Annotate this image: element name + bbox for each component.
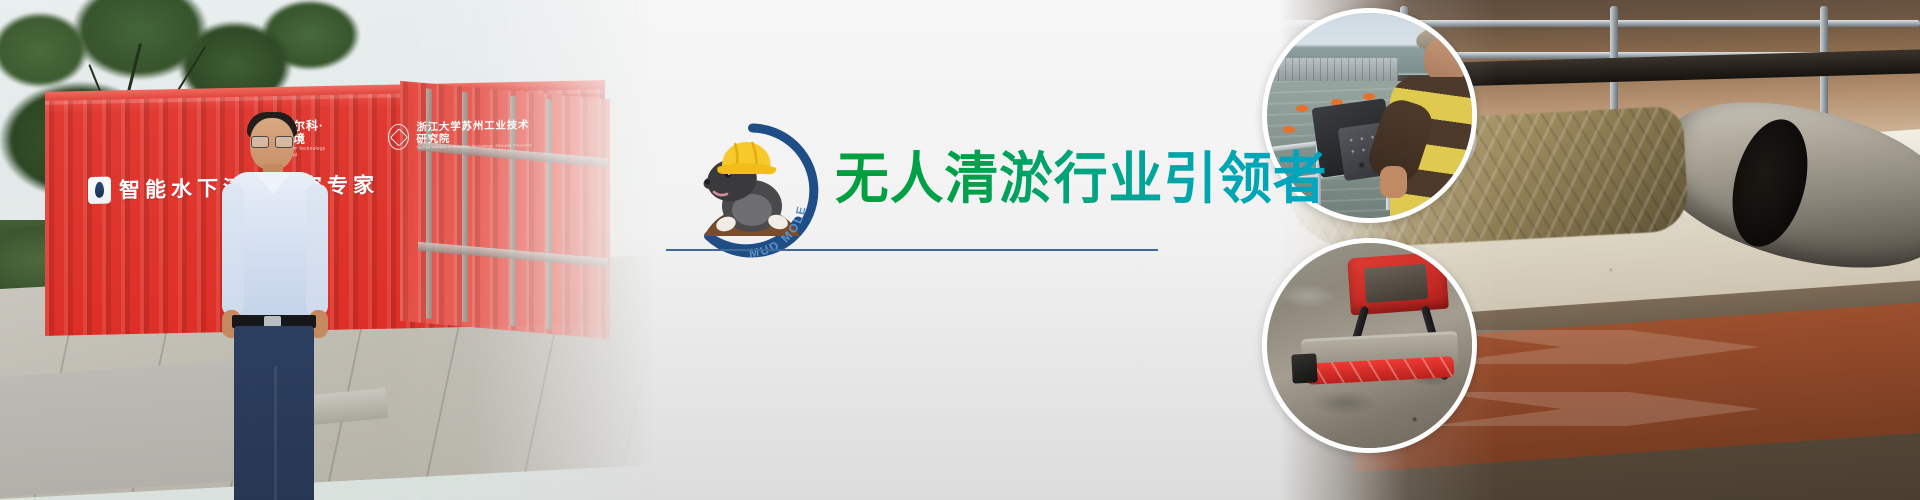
hero-banner: 博尔科·环境 BOULP Technology Co.,Ltd 浙江大学苏州工业… (0, 0, 1920, 500)
person-right-arm (306, 184, 328, 316)
institute-mark-icon (388, 123, 409, 149)
institute-name-cn: 浙江大学苏州工业技术研究院 (416, 119, 535, 146)
divider-line (666, 249, 1158, 251)
center-content: MUD MOLE MUD MOLE 无人清淤行业引领者 (640, 0, 1200, 500)
person-portrait (218, 110, 330, 500)
industrial-shed (1271, 58, 1398, 83)
operator-hand (1380, 166, 1408, 198)
person-jeans (234, 326, 314, 500)
operator-figure (1382, 17, 1477, 218)
institute-logo-block: 浙江大学苏州工业技术研究院 Suzhou Institute of Indust… (388, 119, 535, 151)
float-buoy (1283, 126, 1295, 133)
operator-head (1424, 37, 1469, 81)
person-left-arm (222, 184, 244, 316)
logo-arc-text-value: MUD MOLE (680, 263, 681, 264)
container-site-photo: 博尔科·环境 BOULP Technology Co.,Ltd 浙江大学苏州工业… (0, 0, 660, 500)
robot-machinery (1364, 263, 1428, 302)
slogan-badge-icon (88, 176, 111, 203)
dredging-robot-photo (1262, 238, 1477, 453)
mud-mole-logo-svg: MUD MOLE (680, 118, 825, 263)
mud-mole-logo[interactable]: MUD MOLE MUD MOLE (680, 118, 825, 263)
page-title: 无人清淤行业引领者 (835, 134, 1327, 215)
eyeglasses-icon (251, 136, 293, 146)
auger-gearbox (1291, 353, 1317, 383)
